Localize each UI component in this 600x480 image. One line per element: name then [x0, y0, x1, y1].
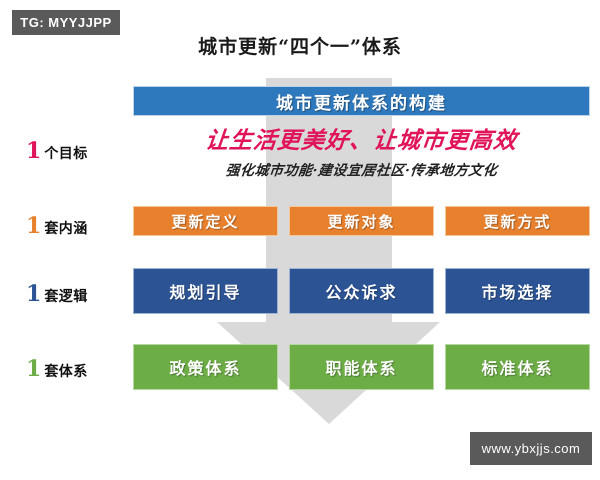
side-label-goal-number: 1: [26, 140, 41, 162]
tg-watermark-badge: TG: MYYJJPP: [12, 10, 120, 35]
goal-slogan-main: 让生活更美好、让城市更高效: [131, 121, 592, 155]
row-system: 政策体系 职能体系 标准体系: [133, 344, 590, 390]
box-logic-3[interactable]: 市场选择: [445, 268, 590, 314]
side-label-goal-text: 个目标: [44, 143, 88, 163]
page-title: 城市更新“四个一”体系: [0, 32, 600, 59]
box-meaning-1[interactable]: 更新定义: [133, 206, 278, 236]
side-label-meaning: 1 套内涵: [26, 215, 136, 238]
box-system-1[interactable]: 政策体系: [133, 344, 278, 390]
box-system-2[interactable]: 职能体系: [289, 344, 434, 390]
box-system-3[interactable]: 标准体系: [445, 344, 590, 390]
side-label-system-number: 1: [26, 358, 41, 380]
side-label-logic: 1 套逻辑: [26, 283, 136, 306]
box-meaning-3[interactable]: 更新方式: [445, 206, 590, 236]
side-label-meaning-number: 1: [26, 215, 41, 237]
diagram-canvas: 城市更新“四个一”体系 城市更新体系的构建 让生活更美好、让城市更高效 强化城市…: [0, 0, 600, 480]
side-label-meaning-text: 套内涵: [44, 218, 88, 238]
side-label-system: 1 套体系: [26, 358, 136, 381]
background-down-arrow-icon: [0, 0, 600, 480]
box-logic-1[interactable]: 规划引导: [133, 268, 278, 314]
row-logic: 规划引导 公众诉求 市场选择: [133, 268, 590, 314]
header-bar-label: 城市更新体系的构建: [276, 89, 447, 114]
side-label-logic-number: 1: [26, 283, 41, 305]
box-logic-2[interactable]: 公众诉求: [289, 268, 434, 314]
box-meaning-2[interactable]: 更新对象: [289, 206, 434, 236]
header-bar: 城市更新体系的构建: [133, 86, 590, 116]
site-watermark-badge: www.ybxjjs.com: [470, 432, 592, 465]
side-label-system-text: 套体系: [44, 361, 88, 381]
side-label-logic-text: 套逻辑: [44, 286, 88, 306]
side-label-goal: 1 个目标: [26, 140, 136, 163]
row-meaning: 更新定义 更新对象 更新方式: [133, 206, 590, 236]
goal-slogan-sub: 强化城市功能·建设宜居社区·传承地方文化: [132, 160, 591, 180]
